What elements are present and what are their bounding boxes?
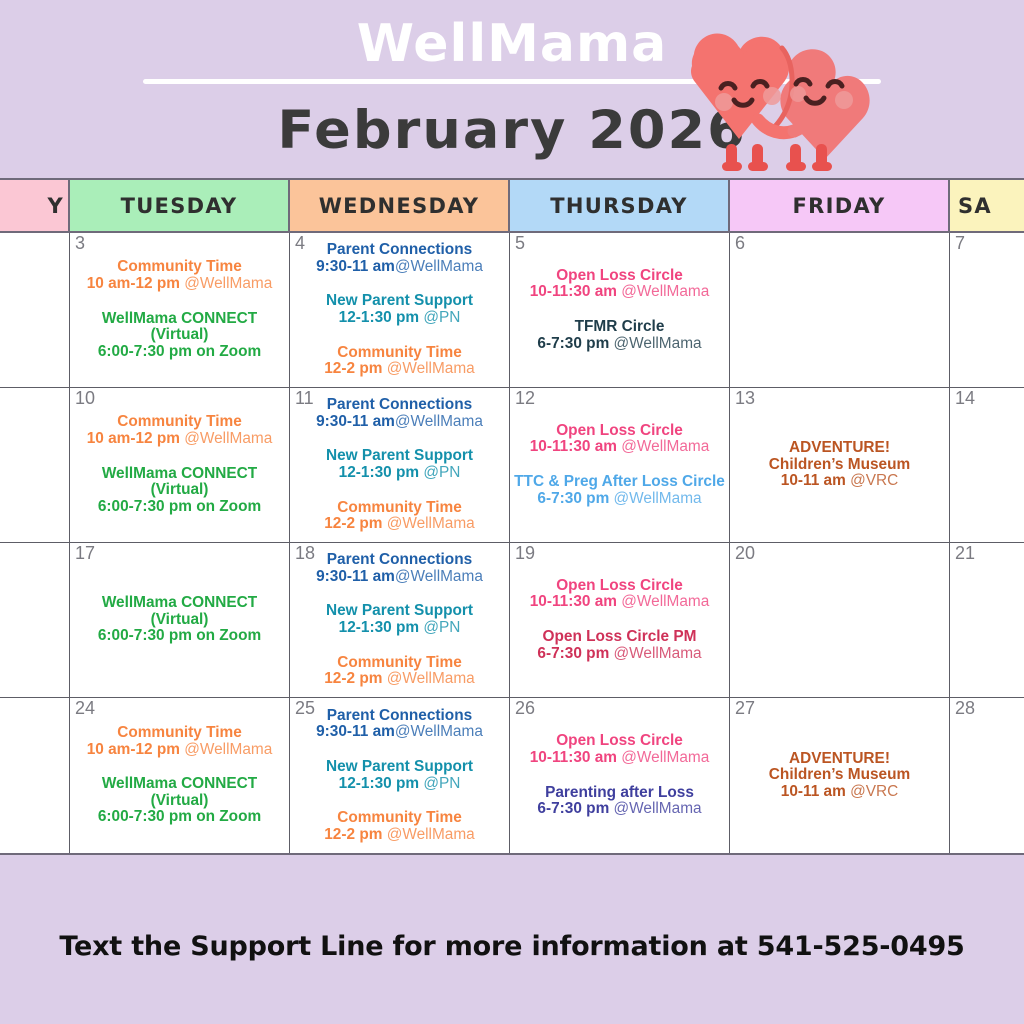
day-cell-wednesday[interactable]: 4Parent Connections9:30-11 am@WellMamaNe… <box>290 233 510 387</box>
calendar-header: WellMama February 2026 <box>0 0 1024 178</box>
event-title: WellMama CONNECT <box>73 311 286 328</box>
event-time-location: 10 am-12 pm @WellMama <box>73 276 286 293</box>
day-number: 13 <box>735 389 755 409</box>
day-cell-monday[interactable]: pportlMamaherslMama <box>0 543 70 697</box>
event-time-location: 12-2 pm @WellMama <box>293 361 506 378</box>
event-list: Community Time10 am-12 pm @WellMamaWellM… <box>73 700 286 851</box>
day-of-week-header-row: Y TUESDAY WEDNESDAY THURSDAY FRIDAY SA <box>0 180 1024 233</box>
event-title: ADVENTURE! <box>733 440 946 457</box>
event-location: @WellMama <box>617 749 709 766</box>
day-cell-saturday[interactable]: 14 <box>950 388 1024 542</box>
event-list <box>733 545 946 695</box>
calendar-event[interactable]: hersllMama <box>3 319 66 352</box>
event-location: @VRC <box>846 783 898 800</box>
event-title-line2: (Virtual) <box>73 327 286 344</box>
event-time: 6-7:30 pm <box>537 645 609 662</box>
event-list <box>953 235 1021 385</box>
event-title: Open Loss Circle <box>513 578 726 595</box>
event-time: 6-7:30 pm <box>537 335 609 352</box>
event-title: Community Time <box>73 725 286 742</box>
calendar-event[interactable]: ADVENTURE!Children’s Museum10-11 am @VRC <box>733 751 946 801</box>
event-location: @PN <box>419 775 460 792</box>
day-cell-thursday[interactable]: 26Open Loss Circle10-11:30 am @WellMamaP… <box>510 698 730 853</box>
calendar-event[interactable]: Open Loss Circle PM6-7:30 pm @WellMama <box>513 629 726 662</box>
calendar-event[interactable]: TFMR Circle6-7:30 pm @WellMama <box>513 319 726 352</box>
event-title: Open Loss Circle <box>513 423 726 440</box>
event-time: 10-11:30 am <box>530 593 617 610</box>
day-number: 6 <box>735 234 745 254</box>
day-cell-thursday[interactable]: 5Open Loss Circle10-11:30 am @WellMamaTF… <box>510 233 730 387</box>
event-time-location: 6-7:30 pm @WellMama <box>513 801 726 818</box>
calendar-event[interactable]: Open Loss Circle10-11:30 am @WellMama <box>513 423 726 456</box>
event-time: 10-11 am <box>781 783 846 800</box>
event-time-location: 10-11:30 am @WellMama <box>513 594 726 611</box>
event-list <box>953 390 1021 540</box>
event-list: WellMama CONNECT(Virtual)6:00-7:30 pm on… <box>73 545 286 695</box>
event-time: 10-11:30 am <box>530 749 617 766</box>
calendar-event[interactable]: WellMama CONNECT(Virtual)6:00-7:30 pm on… <box>73 776 286 826</box>
event-title: Community Time <box>73 414 286 431</box>
event-list: pportlMamaherslMama <box>3 545 66 695</box>
event-title: Parent Connections <box>293 397 506 414</box>
event-time-location: 10-11:30 am @WellMama <box>513 750 726 767</box>
event-title: Community Time <box>293 500 506 517</box>
event-location: @WellMama <box>382 360 474 377</box>
event-title-line2: (Virtual) <box>73 612 286 629</box>
event-time-location: 6-7:30 pm @WellMama <box>513 336 726 353</box>
event-time-location: 10 am-12 pm @WellMama <box>73 742 286 759</box>
event-time: 6-7:30 pm <box>537 800 609 817</box>
event-time-location: 9:30-11 am@WellMama <box>293 569 506 586</box>
calendar-event[interactable]: Open Loss Circle10-11:30 am @WellMama <box>513 578 726 611</box>
event-time: 9:30-11 am <box>316 258 395 275</box>
calendar-event[interactable]: Parent Connections9:30-11 am@WellMama <box>293 242 506 275</box>
calendar-grid: Y TUESDAY WEDNESDAY THURSDAY FRIDAY SA u… <box>0 178 1024 855</box>
event-list: Parent Connections9:30-11 am@WellMamaNew… <box>293 545 506 695</box>
event-time: 10 am-12 pm <box>87 275 180 292</box>
event-location: @WellMama <box>395 413 483 430</box>
event-time: 12-2 pm <box>324 826 382 843</box>
dow-wednesday: WEDNESDAY <box>290 180 510 231</box>
day-number: 25 <box>295 699 315 719</box>
day-number: 27 <box>735 699 755 719</box>
event-time-location: 12-1:30 pm @PN <box>293 310 506 327</box>
event-location: @WellMama <box>609 490 701 507</box>
day-number: 3 <box>75 234 85 254</box>
dow-monday: Y <box>0 180 70 231</box>
event-title: WellMama CONNECT <box>73 776 286 793</box>
calendar-event[interactable]: Parent Connections9:30-11 am@WellMama <box>293 552 506 585</box>
event-list: Community Time10 am-12 pm @WellMamaWellM… <box>73 390 286 540</box>
day-number: 28 <box>955 699 975 719</box>
event-list <box>733 235 946 385</box>
calendar-event[interactable]: Community Time12-2 pm @WellMama <box>293 810 506 843</box>
calendar-event[interactable]: herslMama <box>3 629 66 662</box>
event-time-location: 12-1:30 pm @PN <box>293 465 506 482</box>
day-cell-tuesday[interactable]: 3Community Time10 am-12 pm @WellMamaWell… <box>70 233 290 387</box>
event-location: @PN <box>419 309 460 326</box>
calendar-event[interactable]: Community Time12-2 pm @WellMama <box>293 500 506 533</box>
event-location: @WellMama <box>382 826 474 843</box>
event-location: @WellMama <box>382 670 474 687</box>
calendar-event[interactable]: New Parent Support12-1:30 pm @PN <box>293 603 506 636</box>
event-time-location: 6-7:30 pm @WellMama <box>513 491 726 508</box>
event-location: @WellMama <box>382 515 474 532</box>
event-time: 6:00-7:30 pm on Zoom <box>98 498 261 515</box>
day-number: 18 <box>295 544 315 564</box>
day-cell-friday[interactable]: 27ADVENTURE!Children’s Museum10-11 am @V… <box>730 698 950 853</box>
calendar-event[interactable]: Open Loss Circle10-11:30 am @WellMama <box>513 733 726 766</box>
day-cell-tuesday[interactable]: 17WellMama CONNECT(Virtual)6:00-7:30 pm … <box>70 543 290 697</box>
day-number: 19 <box>515 544 535 564</box>
calendar-event[interactable]: Parent Connections9:30-11 am@WellMama <box>293 708 506 741</box>
day-cell-saturday[interactable]: 7 <box>950 233 1024 387</box>
event-title: Open Loss Circle <box>513 733 726 750</box>
event-time: 9:30-11 am <box>316 723 395 740</box>
day-cell-tuesday[interactable]: 24Community Time10 am-12 pm @WellMamaWel… <box>70 698 290 853</box>
event-title: Community Time <box>293 345 506 362</box>
day-number: 20 <box>735 544 755 564</box>
event-title-line2: Children’s Museum <box>733 457 946 474</box>
day-number: 4 <box>295 234 305 254</box>
event-list: ADVENTURE!Children’s Museum10-11 am @VRC <box>733 390 946 540</box>
event-location: @WellMama <box>617 593 709 610</box>
event-time: 12-1:30 pm <box>339 309 419 326</box>
day-cell-friday[interactable]: 6 <box>730 233 950 387</box>
calendar-event[interactable]: TTC & Preg After Loss Circle6-7:30 pm @W… <box>513 474 726 507</box>
event-time: 12-1:30 pm <box>339 775 419 792</box>
event-list: Community Time10 am-12 pm @WellMamaWellM… <box>73 235 286 385</box>
event-location: @VRC <box>846 472 898 489</box>
day-number: 24 <box>75 699 95 719</box>
event-time: 12-1:30 pm <box>339 464 419 481</box>
dow-saturday: SA <box>950 180 1024 231</box>
day-cell-thursday[interactable]: 19Open Loss Circle10-11:30 am @WellMamaO… <box>510 543 730 697</box>
event-title: Community Time <box>73 259 286 276</box>
event-list: Open Loss Circle10-11:30 am @WellMamaPar… <box>513 700 726 851</box>
event-title: New Parent Support <box>293 759 506 776</box>
calendar-event[interactable]: Parenting after Loss6-7:30 pm @WellMama <box>513 785 726 818</box>
event-title: Parent Connections <box>293 708 506 725</box>
event-time: 10-11:30 am <box>530 438 617 455</box>
calendar-event[interactable]: Community Time12-2 pm @WellMama <box>293 655 506 688</box>
event-location: @WellMama <box>395 568 483 585</box>
event-location: @WellMama <box>395 258 483 275</box>
event-title: Open Loss Circle <box>513 268 726 285</box>
event-list: upportellMama <box>3 700 66 851</box>
week-row: upportllMama10Community Time10 am-12 pm … <box>0 388 1024 543</box>
day-number: 14 <box>955 389 975 409</box>
event-title: WellMama CONNECT <box>73 595 286 612</box>
day-number: 21 <box>955 544 975 564</box>
event-time: 10 am-12 pm <box>87 430 180 447</box>
event-time-location: 6:00-7:30 pm on Zoom <box>73 809 286 826</box>
event-time-location: 12-2 pm @WellMama <box>293 671 506 688</box>
event-location: @PN <box>419 464 460 481</box>
day-cell-saturday[interactable]: 28 <box>950 698 1024 853</box>
day-number: 11 <box>295 389 314 409</box>
event-title: Parent Connections <box>293 552 506 569</box>
calendar-event[interactable]: Parent Connections9:30-11 am@WellMama <box>293 397 506 430</box>
event-time-location: 10-11:30 am @WellMama <box>513 439 726 456</box>
day-cell-saturday[interactable]: 21 <box>950 543 1024 697</box>
event-location: @WellMama <box>180 430 272 447</box>
calendar-event[interactable]: Community Time12-2 pm @WellMama <box>293 345 506 378</box>
calendar-event[interactable]: Open Loss Circle10-11:30 am @WellMama <box>513 268 726 301</box>
event-list: upportllMama <box>3 390 66 540</box>
week-row: upportellMama24Community Time10 am-12 pm… <box>0 698 1024 853</box>
day-cell-monday[interactable]: upportllMamahersllMama <box>0 233 70 387</box>
day-cell-wednesday[interactable]: 25Parent Connections9:30-11 am@WellMamaN… <box>290 698 510 853</box>
event-title-line2: Children’s Museum <box>733 767 946 784</box>
event-location: @WellMama <box>617 438 709 455</box>
event-time: 6:00-7:30 pm on Zoom <box>98 343 261 360</box>
event-time-location: 12-2 pm @WellMama <box>293 516 506 533</box>
event-time: 9:30-11 am <box>316 568 395 585</box>
event-time: 9:30-11 am <box>316 413 395 430</box>
event-time-location: 6:00-7:30 pm on Zoom <box>73 499 286 516</box>
calendar-event[interactable]: New Parent Support12-1:30 pm @PN <box>293 759 506 792</box>
day-cell-thursday[interactable]: 12Open Loss Circle10-11:30 am @WellMamaT… <box>510 388 730 542</box>
event-time-location: 9:30-11 am@WellMama <box>293 259 506 276</box>
brand-title: WellMama <box>357 18 668 70</box>
event-time: 12-2 pm <box>324 360 382 377</box>
event-time: 12-2 pm <box>324 670 382 687</box>
calendar-event[interactable]: upportellMama <box>3 759 66 792</box>
dow-friday: FRIDAY <box>730 180 950 231</box>
event-title: TTC & Preg After Loss Circle <box>513 474 726 491</box>
event-title: New Parent Support <box>293 603 506 620</box>
event-title: Community Time <box>293 655 506 672</box>
calendar-event[interactable]: Community Time10 am-12 pm @WellMama <box>73 725 286 758</box>
event-time: 10 am-12 pm <box>87 741 180 758</box>
calendar-event[interactable]: upportllMama <box>3 268 66 301</box>
event-time-location: 10-11:30 am @WellMama <box>513 284 726 301</box>
calendar-event[interactable]: Community Time10 am-12 pm @WellMama <box>73 414 286 447</box>
event-title-line2: (Virtual) <box>73 482 286 499</box>
hugging-hearts-icon <box>672 22 878 174</box>
calendar-event[interactable]: WellMama CONNECT(Virtual)6:00-7:30 pm on… <box>73 466 286 516</box>
event-location: @WellMama <box>617 283 709 300</box>
day-cell-monday[interactable]: upportllMama <box>0 388 70 542</box>
calendar-event[interactable]: New Parent Support12-1:30 pm @PN <box>293 293 506 326</box>
event-list <box>953 545 1021 695</box>
event-location: @WellMama <box>609 645 701 662</box>
event-title: TFMR Circle <box>513 319 726 336</box>
day-cell-wednesday[interactable]: 18Parent Connections9:30-11 am@WellMamaN… <box>290 543 510 697</box>
event-time-location: 6:00-7:30 pm on Zoom <box>73 628 286 645</box>
event-list: Parent Connections9:30-11 am@WellMamaNew… <box>293 700 506 851</box>
event-time-location: 10 am-12 pm @WellMama <box>73 431 286 448</box>
day-cell-friday[interactable]: 13ADVENTURE!Children’s Museum10-11 am @V… <box>730 388 950 542</box>
event-list: Open Loss Circle10-11:30 am @WellMamaOpe… <box>513 545 726 695</box>
event-location: @WellMama <box>609 800 701 817</box>
event-title-line2: (Virtual) <box>73 793 286 810</box>
event-list: ADVENTURE!Children’s Museum10-11 am @VRC <box>733 700 946 851</box>
event-time: 6:00-7:30 pm on Zoom <box>98 808 261 825</box>
event-time-location: 6-7:30 pm @WellMama <box>513 646 726 663</box>
event-list <box>953 700 1021 851</box>
event-title: Parent Connections <box>293 242 506 259</box>
dow-thursday: THURSDAY <box>510 180 730 231</box>
event-time: 12-1:30 pm <box>339 619 419 636</box>
event-title: Parenting after Loss <box>513 785 726 802</box>
day-cell-friday[interactable]: 20 <box>730 543 950 697</box>
dow-tuesday: TUESDAY <box>70 180 290 231</box>
event-time: 10-11 am <box>781 472 846 489</box>
event-time-location: 9:30-11 am@WellMama <box>293 724 506 741</box>
event-location: @WellMama <box>180 741 272 758</box>
calendar-event[interactable]: WellMama CONNECT(Virtual)6:00-7:30 pm on… <box>73 595 286 645</box>
calendar-event[interactable]: New Parent Support12-1:30 pm @PN <box>293 448 506 481</box>
event-time-location: 12-1:30 pm @PN <box>293 776 506 793</box>
event-list: upportllMamahersllMama <box>3 235 66 385</box>
footer-banner: Text the Support Line for more informati… <box>0 855 1024 1024</box>
day-cell-tuesday[interactable]: 10Community Time10 am-12 pm @WellMamaWel… <box>70 388 290 542</box>
event-title: Community Time <box>293 810 506 827</box>
day-number: 17 <box>75 544 95 564</box>
day-cell-monday[interactable]: upportellMama <box>0 698 70 853</box>
event-time-location: 6:00-7:30 pm on Zoom <box>73 344 286 361</box>
day-number: 7 <box>955 234 965 254</box>
event-list: Parent Connections9:30-11 am@WellMamaNew… <box>293 235 506 385</box>
calendar-event[interactable]: ADVENTURE!Children’s Museum10-11 am @VRC <box>733 440 946 490</box>
day-number: 10 <box>75 389 95 409</box>
event-time-location: 10-11 am @VRC <box>733 473 946 490</box>
week-row: upportllMamahersllMama3Community Time10 … <box>0 233 1024 388</box>
calendar-event[interactable]: WellMama CONNECT(Virtual)6:00-7:30 pm on… <box>73 311 286 361</box>
day-cell-wednesday[interactable]: 11Parent Connections9:30-11 am@WellMamaN… <box>290 388 510 542</box>
calendar-event[interactable]: upportllMama <box>3 448 66 481</box>
event-title: WellMama CONNECT <box>73 466 286 483</box>
event-time: 6:00-7:30 pm on Zoom <box>98 627 261 644</box>
event-title: ADVENTURE! <box>733 751 946 768</box>
day-number: 12 <box>515 389 535 409</box>
event-time-location: 12-2 pm @WellMama <box>293 827 506 844</box>
event-list: Open Loss Circle10-11:30 am @WellMamaTTC… <box>513 390 726 540</box>
week-row: pportlMamaherslMama17WellMama CONNECT(Vi… <box>0 543 1024 698</box>
event-title: New Parent Support <box>293 448 506 465</box>
event-list: Open Loss Circle10-11:30 am @WellMamaTFM… <box>513 235 726 385</box>
event-location: @WellMama <box>180 275 272 292</box>
event-title: Open Loss Circle PM <box>513 629 726 646</box>
day-number: 5 <box>515 234 525 254</box>
event-time-location: 12-1:30 pm @PN <box>293 620 506 637</box>
event-title: New Parent Support <box>293 293 506 310</box>
event-time-location: 9:30-11 am@WellMama <box>293 414 506 431</box>
calendar-event[interactable]: Community Time10 am-12 pm @WellMama <box>73 259 286 292</box>
calendar-event[interactable]: pportlMama <box>3 578 66 611</box>
event-time: 12-2 pm <box>324 515 382 532</box>
event-time: 6-7:30 pm <box>537 490 609 507</box>
event-time-location: 10-11 am @VRC <box>733 784 946 801</box>
event-location: @WellMama <box>395 723 483 740</box>
event-time: 10-11:30 am <box>530 283 617 300</box>
day-number: 26 <box>515 699 535 719</box>
event-location: @PN <box>419 619 460 636</box>
event-list: Parent Connections9:30-11 am@WellMamaNew… <box>293 390 506 540</box>
support-line-text: Text the Support Line for more informati… <box>59 931 964 962</box>
event-location: @WellMama <box>609 335 701 352</box>
